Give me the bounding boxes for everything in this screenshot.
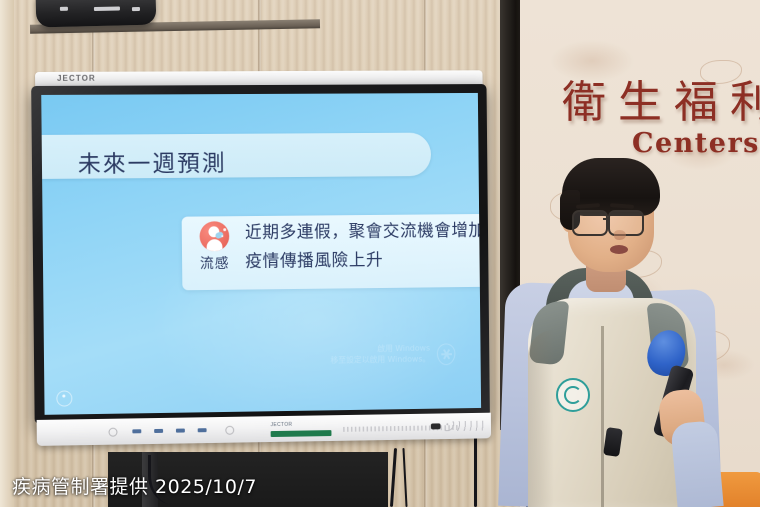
slide-corner-decoration [56,390,72,406]
snowflake-icon [437,343,456,365]
interactive-flat-panel-display[interactable]: JECTOR 未來一週預測 [31,70,494,454]
nose [614,230,626,240]
speaker-grille [444,421,485,432]
speaker-vent [343,425,460,432]
press-conference-photo: 衛生福利 Centers JECTOR 未來一週預測 [0,0,760,507]
usb-port[interactable] [176,429,185,433]
ceiling-camera-device [36,0,157,27]
flu-icon-group: 流感 [189,221,241,273]
vest-shadow [528,330,554,507]
slide-title: 未來一週預測 [78,144,227,179]
usb-port[interactable] [132,429,141,433]
presentation-slide: 未來一週預測 流感 近期多連假，聚會交流機會增加 [41,93,481,415]
icon-droplet [221,235,223,237]
power-button[interactable] [108,428,117,437]
chin-sticker [271,430,332,437]
icon-droplet [223,228,226,231]
ir-sensor [431,423,441,429]
glasses-bridge [603,218,610,220]
photo-caption: 疾病管制署提供 2025/10/7 [12,472,257,499]
device-label [94,6,120,11]
windows-activation-watermark: 啟用 Windows 移至設定以啟用 Windows。 [330,343,455,366]
device-led [60,7,68,11]
wall-sign-chinese: 衛生福利 [562,66,760,130]
alert-line-1: 近期多連假，聚會交流機會增加 [245,217,481,248]
chin-brand-label: JECTOR [271,422,293,428]
display-bezel: 未來一週預測 流感 近期多連假，聚會交流機會增加 [31,84,490,424]
glasses-left-lens [572,210,608,236]
device-led [132,7,140,11]
wall-left-edge [0,0,14,507]
mouth [610,245,628,254]
speaker-person [498,150,760,507]
vest-zipper [601,326,604,507]
icon-body-shape [207,239,223,251]
display-brand-label: JECTOR [57,74,96,83]
flu-icon-label: 流感 [189,253,241,273]
hdmi-port[interactable] [198,428,207,432]
watermark-line-2: 移至設定以啟用 Windows。 [330,354,430,366]
forearm [670,420,723,507]
usb-port[interactable] [154,429,163,433]
display-screen[interactable]: 未來一週預測 流感 近期多連假，聚會交流機會增加 [41,93,481,415]
flu-person-coughing-icon [199,221,229,251]
alert-line-2: 疫情傳播風險上升 [245,246,481,277]
cdc-vest-emblem-icon [556,378,590,412]
alert-text-block: 近期多連假，聚會交流機會增加 疫情傳播風險上升 [245,217,481,277]
watermark-text-block: 啟用 Windows 移至設定以啟用 Windows。 [330,344,430,367]
menu-button[interactable] [225,426,234,435]
